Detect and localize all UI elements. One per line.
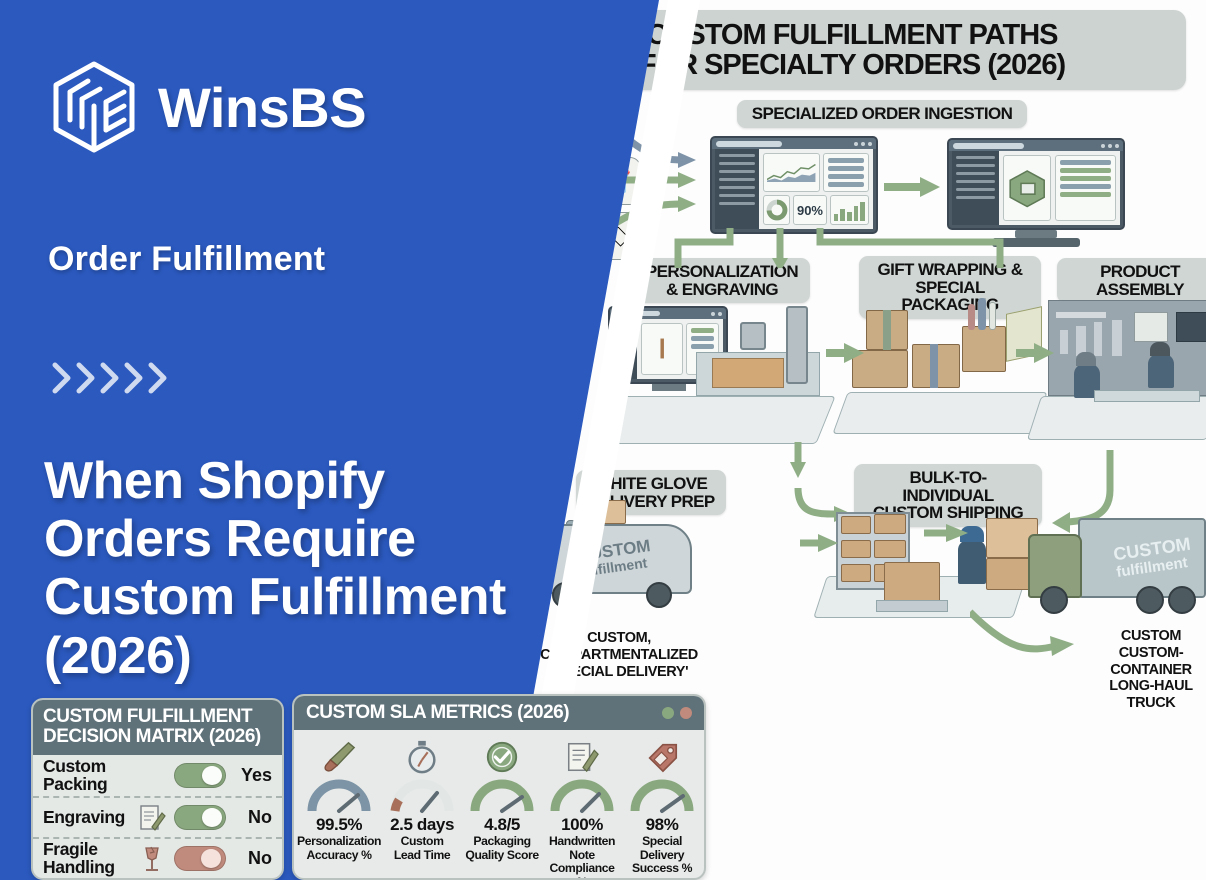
metric-value: 100% [543, 815, 621, 835]
engraving-to-giftwrap-arrow [826, 338, 866, 368]
gauge-packaging-quality [463, 778, 541, 814]
wrapping-paper-roll [978, 298, 986, 330]
sla-metrics-row: 99.5% Personalization Accuracy % 2.5 day… [294, 730, 704, 880]
matrix-row-engraving[interactable]: Engraving No [33, 796, 282, 837]
dashboard-kpi-card: 90% [793, 195, 826, 225]
chevron-right-icon [98, 358, 122, 398]
chevron-right-icon [122, 358, 146, 398]
monitor-sidebar[interactable] [952, 151, 999, 225]
page-title: When Shopify Orders Require Custom Fulfi… [44, 452, 514, 685]
matrix-label-engraving: Engraving [43, 809, 130, 827]
engraving-gantry-arm [786, 306, 808, 384]
truck-wheel [1136, 586, 1164, 614]
brand-lockup: WinsBS [48, 58, 366, 156]
gift-ribbon [883, 310, 891, 350]
metric-value: 2.5 days [383, 815, 461, 835]
monitor-titlebar [949, 140, 1123, 151]
chevron-right-icon [74, 358, 98, 398]
dashboard-kpi-value: 90% [794, 196, 825, 224]
caption-special-delivery-van: CUSTOM, COMPARTMENTALIZED 'SPECIAL DELIV… [514, 630, 724, 680]
wrapping-paper-roll [968, 304, 975, 330]
gauge-lead-time [383, 778, 461, 814]
assembly-worker [1148, 354, 1174, 388]
packaging-supplies-box [962, 326, 1006, 372]
engraving-laser-head [740, 322, 766, 350]
status-dot-red [680, 707, 692, 719]
matrix-label-custom-packing: Custom Packing [43, 758, 166, 793]
stopwatch-icon [383, 736, 461, 778]
paintbrush-icon [297, 736, 381, 778]
window-dot [868, 142, 872, 146]
engraving-station-platform [594, 396, 835, 444]
handwritten-note-icon [543, 736, 621, 778]
metric-custom-lead-time: 2.5 days Custom Lead Time [382, 736, 462, 880]
brand-name: WinsBS [158, 75, 366, 140]
gauge-special-delivery [623, 778, 701, 814]
matrix-row-custom-packing[interactable]: Custom Packing Yes [33, 755, 282, 796]
monogram-preview: Ⅰ [641, 323, 683, 375]
matrix-row-fragile-handling[interactable]: Fragile Handling No [33, 837, 282, 878]
assembly-reference-board [1134, 312, 1168, 342]
gauge-personalization [297, 778, 381, 814]
metric-personalization-accuracy: 99.5% Personalization Accuracy % [296, 736, 382, 880]
giftwrap-table [832, 392, 1047, 434]
gift-ribbon [930, 344, 938, 388]
cube-box-logo-icon [48, 58, 140, 156]
assembly-screen [1176, 312, 1206, 342]
pallet-box [884, 562, 940, 602]
order-ingestion-dashboard[interactable]: 90% [710, 136, 878, 234]
metric-value: 4.8/5 [463, 815, 541, 835]
configurator-options-list[interactable] [1055, 155, 1116, 221]
decision-matrix-panel: CUSTOM FULFILLMENT DECISION MATRIX (2026… [31, 698, 284, 880]
sla-status-dots [662, 707, 692, 719]
warehouse-worker [958, 540, 986, 584]
van-wheel [646, 582, 672, 608]
bulk-to-truck-arrow [970, 606, 1080, 664]
dashboard-sidebar[interactable] [715, 149, 759, 229]
bulk-to-outbound-arrow [924, 520, 970, 546]
sla-metrics-header: CUSTOM SLA METRICS (2026) [294, 696, 704, 730]
screenshot-root: CUSTOM FULFILLMENT PATHS FOR SPECIALTY O… [0, 0, 1206, 880]
toggle-engraving[interactable] [174, 805, 226, 830]
engraving-pen-document-icon [138, 803, 166, 833]
toggle-fragile-handling[interactable] [174, 846, 226, 871]
metric-value: 98% [623, 815, 701, 835]
ingestion-to-assembly-arrow [884, 172, 944, 202]
chevron-right-icon [50, 358, 74, 398]
status-dot-green [662, 707, 674, 719]
metric-packaging-quality: 4.8/5 Packaging Quality Score [462, 736, 542, 880]
category-label: Order Fulfillment [48, 240, 325, 279]
chevron-right-icon [146, 358, 170, 398]
sla-metrics-title: CUSTOM SLA METRICS (2026) [306, 702, 569, 724]
assembly-workbench [1094, 390, 1200, 402]
caption-long-haul-truck: CUSTOM CUSTOM-CONTAINER LONG-HAUL TRUCK [1086, 628, 1206, 712]
assembly-floor [1027, 396, 1206, 440]
fragile-glass-icon [138, 844, 166, 874]
metric-special-delivery-success: 98% Special Delivery Success % [622, 736, 702, 880]
matrix-label-fragile-handling: Fragile Handling [43, 841, 130, 876]
matrix-value-fragile-handling: No [234, 848, 272, 869]
gift-tag-icon [623, 736, 701, 778]
section-label-ingestion: SPECIALIZED ORDER INGESTION [737, 100, 1027, 128]
dashboard-list-card [823, 153, 869, 192]
metric-handwritten-note-compliance: 100% Handwritten Note Compliance % [542, 736, 622, 880]
decision-matrix-title: CUSTOM FULFILLMENT DECISION MATRIX (2026… [33, 700, 282, 755]
bulk-inbound-arrow [800, 530, 840, 556]
window-dot [854, 142, 858, 146]
custom-configurator-monitor[interactable] [947, 138, 1125, 230]
chevron-divider [50, 358, 170, 398]
window-dot [861, 142, 865, 146]
worker-cap [1150, 342, 1170, 356]
sla-metrics-panel: CUSTOM SLA METRICS (2026) 99.5% Personal… [292, 694, 706, 880]
dashboard-donut-card [763, 195, 790, 225]
wrapping-paper-roll [989, 302, 996, 330]
3d-product-preview [1003, 155, 1051, 221]
metric-value: 99.5% [297, 815, 381, 835]
engraving-workpiece [712, 358, 784, 388]
giftwrap-to-assembly-arrow [1016, 338, 1056, 368]
decision-matrix-title-line2: DECISION MATRIX (2026) [43, 727, 272, 747]
gauge-note-compliance [543, 778, 621, 814]
matrix-value-custom-packing: Yes [234, 765, 272, 786]
stage-connector-pipes [670, 228, 1090, 268]
pallet [876, 600, 948, 612]
dashboard-bars-card [830, 195, 869, 225]
quality-check-badge-icon [463, 736, 541, 778]
worker-cap [1076, 352, 1096, 366]
decision-matrix-title-line1: CUSTOM FULFILLMENT [43, 707, 272, 727]
dashboard-titlebar [712, 138, 876, 149]
truck-wheel [1040, 586, 1068, 614]
truck-wheel [1168, 586, 1196, 614]
matrix-value-engraving: No [234, 807, 272, 828]
dashboard-chart-card [763, 153, 819, 192]
toggle-custom-packing[interactable] [174, 763, 226, 788]
